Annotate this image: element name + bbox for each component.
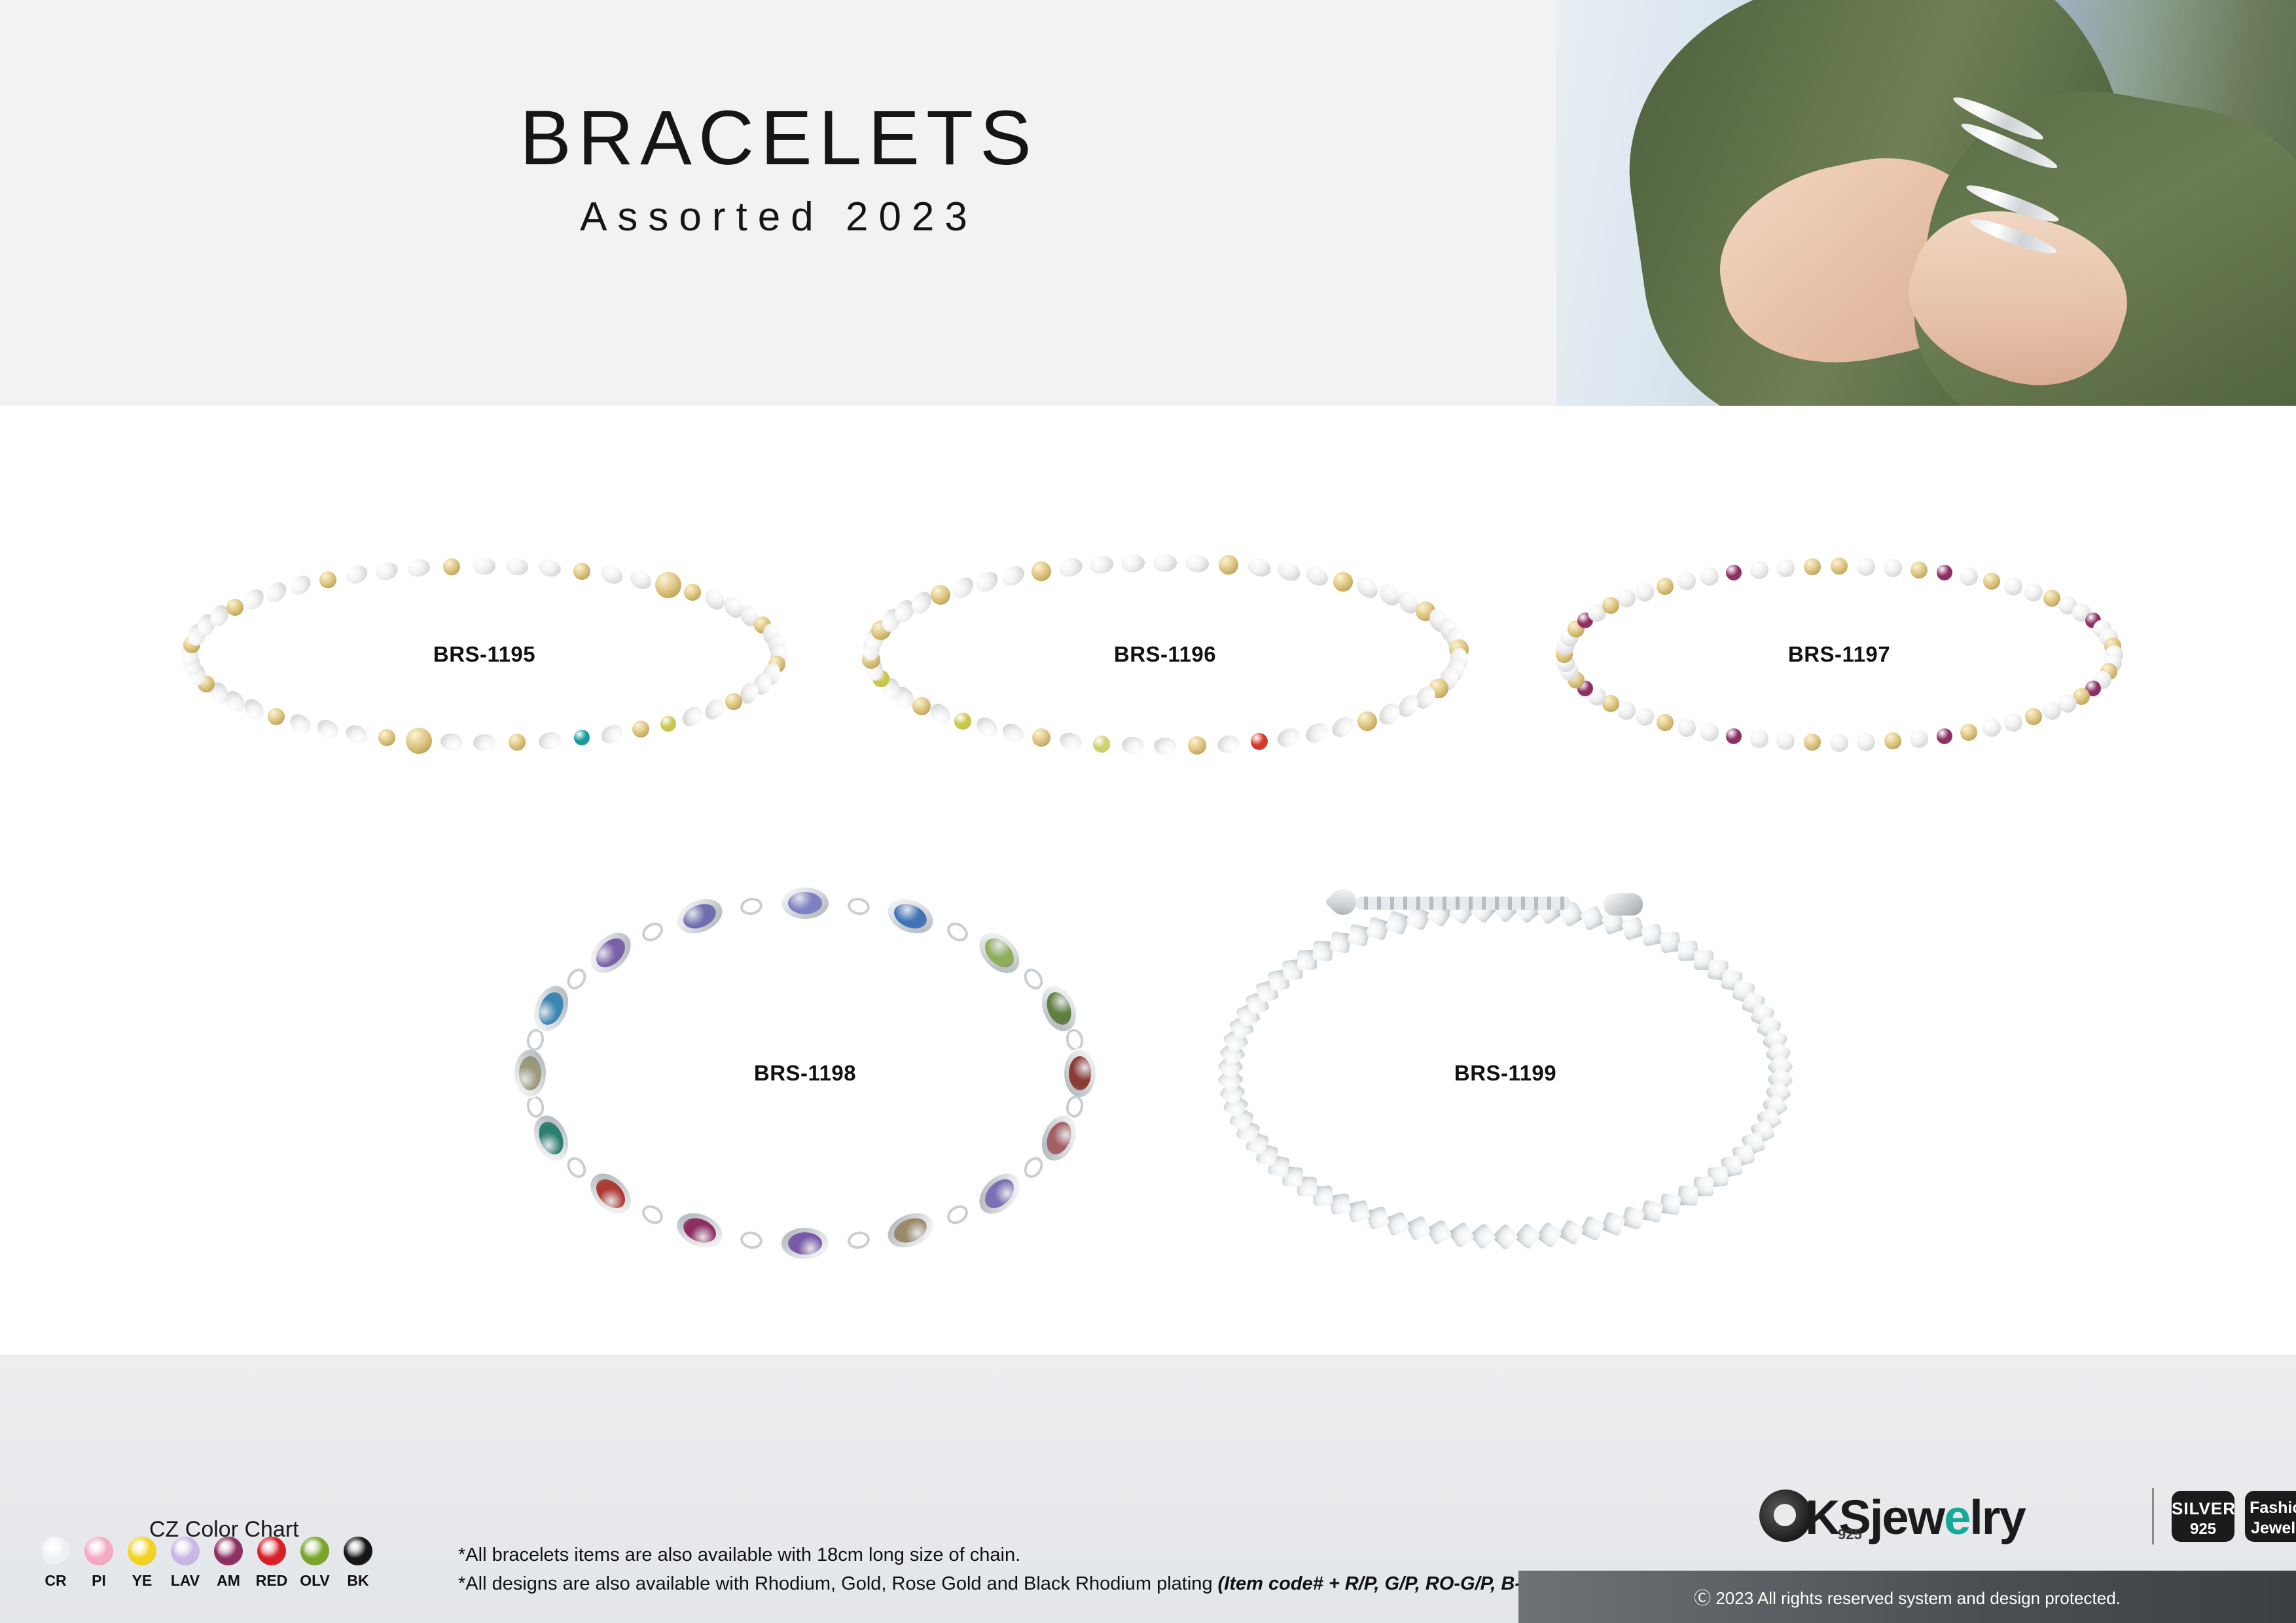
- swirl-icon: [1759, 1489, 1812, 1542]
- brand-sub: 925: [1838, 1526, 1862, 1543]
- fashion-jewelry-badge: Fashion Jewelry: [2245, 1491, 2296, 1542]
- cz-swatch-pi: PI: [77, 1537, 120, 1590]
- cz-stone: [1329, 931, 1352, 954]
- gem-icon: [300, 1537, 329, 1565]
- product-code-4: BRS-1199: [1454, 1061, 1556, 1086]
- cz-swatch-label: PI: [77, 1572, 120, 1590]
- gem-icon: [257, 1537, 286, 1565]
- cz-swatch-bk: BK: [336, 1537, 380, 1590]
- product-card-4[interactable]: BRS-1199: [0, 406, 2296, 1355]
- cz-swatch-label: LAV: [164, 1572, 207, 1590]
- note-line-2: *All designs are also available with Rho…: [458, 1570, 1564, 1599]
- brand-logo: KSjewelry 925 SILVER 925 Fashion Jewelry: [1759, 1486, 2257, 1548]
- cz-swatch-label: OLV: [293, 1572, 336, 1590]
- logo-divider: [2152, 1488, 2154, 1544]
- cz-swatch-red: RED: [250, 1537, 293, 1590]
- silver-badge-line1: SILVER: [2172, 1499, 2234, 1519]
- gem-icon: [214, 1537, 243, 1565]
- cz-swatch-label: AM: [207, 1572, 250, 1590]
- page-title: BRACELETS: [0, 98, 1558, 179]
- note-line-1: *All bracelets items are also available …: [458, 1541, 1564, 1570]
- model-photo: [1556, 0, 2296, 406]
- cz-stone: [1405, 1215, 1431, 1241]
- cz-swatch-label: YE: [120, 1572, 164, 1590]
- cz-color-chart: CRPIYELAVAMREDOLVBK: [34, 1537, 380, 1590]
- cz-stone: [1448, 1221, 1475, 1249]
- brand-name-jew: jew: [1870, 1490, 1944, 1544]
- gem-icon: [171, 1537, 200, 1565]
- note-line-2-code: (Item code# + R/P, G/P, RO-G/P, B-R/P).: [1218, 1573, 1564, 1594]
- heart-charm: [1325, 883, 1362, 921]
- cz-stone: [1641, 1200, 1664, 1223]
- gem-icon: [344, 1537, 372, 1565]
- lobster-clasp: [1604, 893, 1643, 916]
- cz-swatch-am: AM: [207, 1537, 250, 1590]
- cz-swatch-lav: LAV: [164, 1537, 207, 1590]
- fashion-badge-line1: Fashion: [2245, 1499, 2296, 1518]
- fashion-badge-line2: Jewelry: [2245, 1519, 2296, 1538]
- silver-badge-line2: 925: [2172, 1520, 2234, 1539]
- gem-icon: [128, 1537, 156, 1565]
- cz-swatch-label: RED: [250, 1572, 293, 1590]
- gem-icon: [84, 1537, 113, 1565]
- cz-swatch-olv: OLV: [293, 1537, 336, 1590]
- silver-925-badge: SILVER 925: [2172, 1491, 2234, 1542]
- brand-name-e: e: [1944, 1490, 1969, 1544]
- page-subtitle: Assorted 2023: [0, 194, 1558, 240]
- cz-swatch-cr: CR: [34, 1537, 77, 1590]
- product-canvas: BRS-1195 BRS-1196 BRS-1197 BRS-1198 BRS-…: [0, 406, 2296, 1355]
- title-block: BRACELETS Assorted 2023: [0, 98, 1558, 240]
- cz-stone: [1659, 1193, 1681, 1215]
- cz-stone: [1558, 1219, 1585, 1245]
- gem-icon: [41, 1537, 70, 1565]
- cz-swatch-label: BK: [336, 1572, 380, 1590]
- cz-swatch-label: CR: [34, 1572, 77, 1590]
- page-header: BRACELETS Assorted 2023: [0, 0, 2296, 406]
- footer-notes: *All bracelets items are also available …: [458, 1541, 1564, 1598]
- copyright-text: Ⓒ 2023 All rights reserved system and de…: [1518, 1585, 2296, 1609]
- cz-stone: [1385, 1211, 1410, 1236]
- extension-chain: [1355, 897, 1571, 910]
- note-line-2-text: *All designs are also available with Rho…: [458, 1573, 1218, 1594]
- cz-swatch-ye: YE: [120, 1537, 164, 1590]
- brand-name-lry: lry: [1969, 1490, 2025, 1544]
